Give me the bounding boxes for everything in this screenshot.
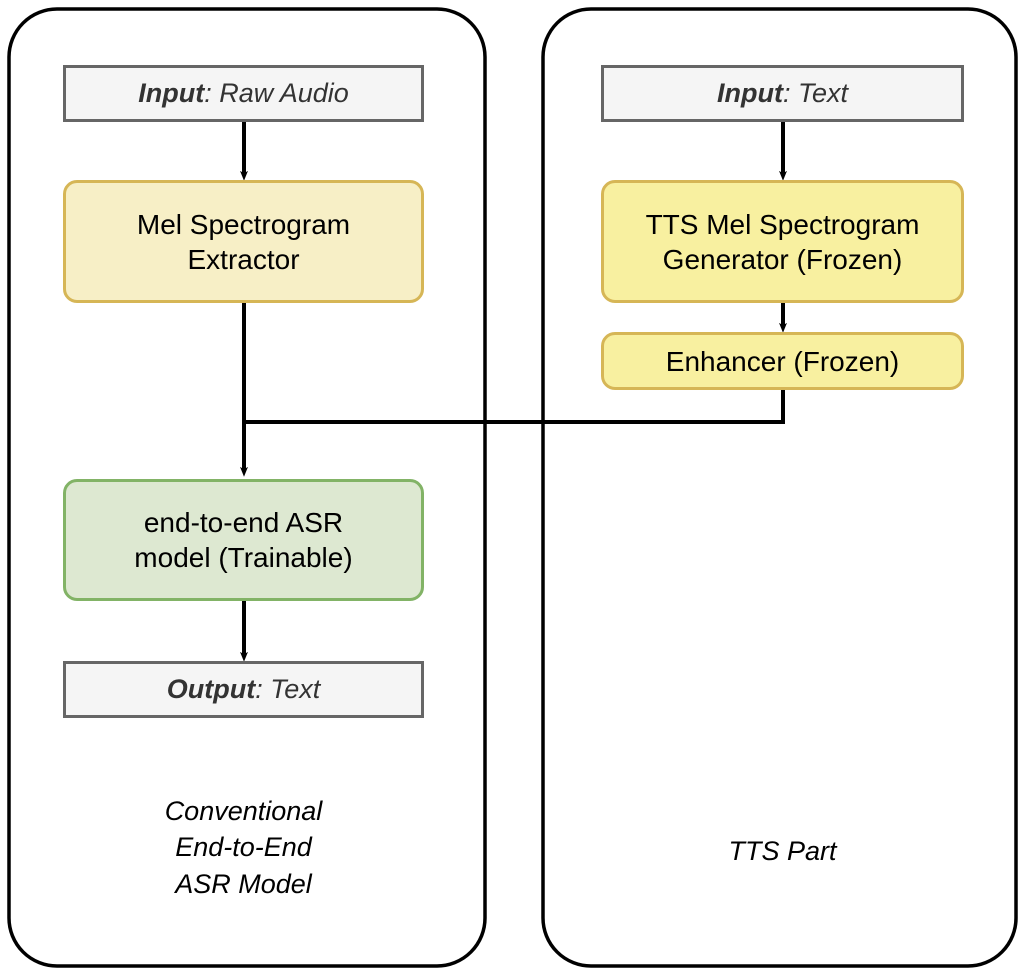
output-text-label-strong: Output (167, 674, 255, 704)
input-text-label-rest: : Text (783, 78, 848, 108)
input-raw-audio-label-strong: Input (138, 78, 204, 108)
end-to-end-asr-model-node[interactable]: end-to-end ASR model (Trainable) (63, 479, 424, 601)
input-text-node[interactable]: Input: Text (601, 65, 964, 122)
mel-spectrogram-extractor-node[interactable]: Mel Spectrogram Extractor (63, 180, 424, 303)
tts-mel-spectrogram-generator-label: TTS Mel Spectrogram Generator (Frozen) (646, 207, 920, 277)
tts-mel-spectrogram-generator-node[interactable]: TTS Mel Spectrogram Generator (Frozen) (601, 180, 964, 303)
input-raw-audio-node[interactable]: Input: Raw Audio (63, 65, 424, 122)
left-panel-caption: Conventional End-to-End ASR Model (63, 793, 424, 902)
output-text-label-rest: : Text (255, 674, 320, 704)
right-panel-container (543, 9, 1016, 966)
end-to-end-asr-model-label: end-to-end ASR model (Trainable) (134, 505, 352, 575)
enhancer-node[interactable]: Enhancer (Frozen) (601, 332, 964, 390)
input-text-label-strong: Input (717, 78, 783, 108)
diagram-canvas: Input: Raw Audio Mel Spectrogram Extract… (0, 0, 1025, 975)
input-raw-audio-label-rest: : Raw Audio (204, 78, 349, 108)
connector-enhancer-to-asr (244, 390, 783, 422)
enhancer-label: Enhancer (Frozen) (666, 344, 899, 379)
right-panel-caption: TTS Part (601, 833, 964, 869)
output-text-node[interactable]: Output: Text (63, 661, 424, 718)
mel-spectrogram-extractor-label: Mel Spectrogram Extractor (137, 207, 350, 277)
